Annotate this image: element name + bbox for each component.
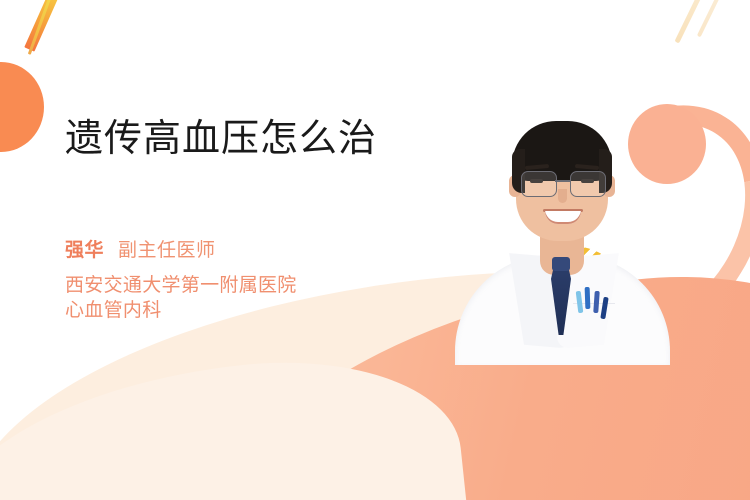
- video-thumbnail: 遗传高血压怎么治 强华 副主任医师 西安交通大学第一附属医院 心血管内科: [0, 0, 750, 500]
- glasses-lens-left: [521, 171, 557, 197]
- orange-circle-decoration: [0, 62, 44, 152]
- cream-diagonal-stripe-icon-1: [674, 0, 710, 43]
- glasses-lens-right: [570, 171, 606, 197]
- wave-highlight-decoration: [0, 343, 467, 500]
- doctor-hospital: 西安交通大学第一附属医院: [65, 273, 377, 298]
- nose: [558, 189, 567, 203]
- tie-knot: [552, 257, 570, 271]
- text-block: 遗传高血压怎么治 强华 副主任医师 西安交通大学第一附属医院 心血管内科: [65, 118, 377, 322]
- page-title: 遗传高血压怎么治: [65, 118, 377, 159]
- doctor-department: 心血管内科: [65, 298, 377, 323]
- cream-diagonal-stripe-icon-2: [697, 0, 731, 37]
- doctor-credential-row: 强华 副主任医师: [65, 235, 377, 262]
- doctor-job-title: 副主任医师: [118, 235, 216, 262]
- yellow-diagonal-stripe-icon: [28, 0, 51, 55]
- glasses-bridge: [555, 180, 570, 182]
- orange-diagonal-stripe-icon: [24, 0, 58, 52]
- doctor-name: 强华: [65, 235, 104, 262]
- pen-icon-2: [585, 287, 591, 309]
- doctor-portrait: [455, 105, 670, 360]
